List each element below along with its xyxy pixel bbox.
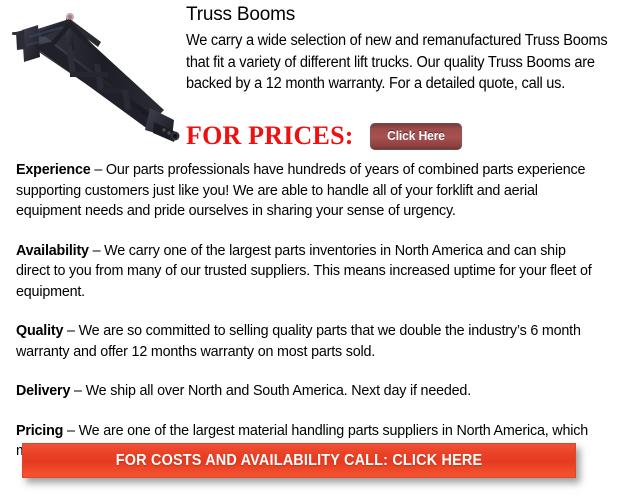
truss-boom-product-image bbox=[4, 2, 184, 154]
section-dash-availability: – bbox=[89, 242, 104, 259]
costs-availability-cta-button[interactable]: FOR COSTS AND AVAILABILITY CALL: CLICK H… bbox=[22, 443, 576, 478]
section-label-delivery: Delivery bbox=[16, 382, 70, 399]
click-here-button[interactable]: Click Here bbox=[370, 123, 462, 150]
section-text-delivery: We ship all over North and South America… bbox=[86, 382, 471, 399]
section-text-quality: We are so committed to selling quality p… bbox=[16, 322, 581, 360]
for-prices-label: FOR PRICES: bbox=[186, 122, 354, 150]
section-dash-pricing: – bbox=[63, 422, 78, 439]
section-quality: Quality – We are so committed to selling… bbox=[16, 321, 594, 362]
product-hero: Truss Booms We carry a wide selection of… bbox=[0, 0, 619, 160]
section-label-quality: Quality bbox=[16, 322, 63, 339]
cta-label: FOR COSTS AND AVAILABILITY CALL: CLICK H… bbox=[116, 452, 483, 470]
section-label-pricing: Pricing bbox=[16, 422, 63, 439]
for-prices-row: FOR PRICES: Click Here bbox=[186, 122, 464, 150]
section-dash-quality: – bbox=[63, 322, 78, 339]
product-copy: Truss Booms We carry a wide selection of… bbox=[186, 3, 610, 95]
section-experience: Experience – Our parts professionals hav… bbox=[16, 160, 594, 222]
product-description: We carry a wide selection of new and rem… bbox=[186, 30, 609, 95]
value-prop-sections: Experience – Our parts professionals hav… bbox=[16, 160, 596, 481]
section-label-experience: Experience bbox=[16, 161, 91, 178]
page-title: Truss Booms bbox=[186, 3, 610, 26]
section-availability: Availability – We carry one of the large… bbox=[16, 241, 594, 303]
section-dash-experience: – bbox=[91, 161, 106, 178]
cta-banner-wrapper: FOR COSTS AND AVAILABILITY CALL: CLICK H… bbox=[22, 443, 576, 478]
section-delivery: Delivery – We ship all over North and So… bbox=[16, 381, 594, 402]
section-dash-delivery: – bbox=[70, 382, 85, 399]
section-label-availability: Availability bbox=[16, 242, 89, 259]
